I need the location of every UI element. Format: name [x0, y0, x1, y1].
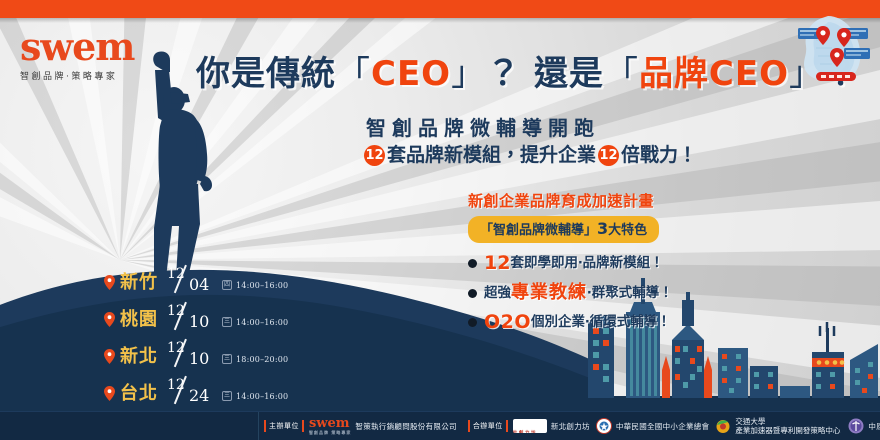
- coorganizer-tag: 合辦單位: [468, 420, 508, 432]
- partner-name-4: 中原大學創新育成中心: [868, 421, 880, 432]
- organizer-logo[interactable]: swem 智創品牌 策略專家: [309, 417, 351, 435]
- schedule-time: 18:00–20:00: [236, 355, 288, 364]
- poster-canvas: swem 智創品牌‧策略專家 你是傳統「CEO」？ 還是「品牌CEO」？ 智創品…: [0, 0, 880, 440]
- schedule-date: 12 04: [167, 267, 221, 293]
- feature-3-text: 個別企業‧循環式輔導！: [531, 316, 671, 330]
- headline-part1: 你是傳統: [196, 54, 336, 94]
- headline-open-bracket2: 「: [604, 54, 639, 94]
- schedule-time: 14:00–16:00: [236, 281, 288, 290]
- pill-pre: 「智創品牌微輔導」: [480, 223, 597, 238]
- nasme-logo-icon[interactable]: [596, 418, 612, 434]
- schedule-city: 新竹: [120, 274, 158, 292]
- feature-1-number: 12: [484, 254, 510, 273]
- schedule-time: 14:00–16:00: [236, 318, 288, 327]
- headline-ceo: CEO: [371, 54, 451, 94]
- feature-1-text: 套即學即用‧品牌新模組！: [510, 257, 663, 271]
- head-with-map-pins-graphic: [792, 14, 876, 88]
- feature-2-accent: 專業教練: [511, 284, 587, 302]
- sponsor-divider: [258, 412, 259, 440]
- shulin-badge-icon: 杜 創 力 坊 Innovation Hub: [513, 419, 547, 433]
- feature-2-text: ‧群聚式輔導！: [587, 287, 673, 301]
- sponsor-bar: 主辦單位 swem 智創品牌 策略專家 智策執行銷顧問股份有限公司 合辦單位 杜…: [0, 411, 880, 440]
- schedule-day: 24: [189, 388, 209, 404]
- feature-item-1: 12套即學即用‧品牌新模組！: [468, 254, 708, 273]
- feature-2-pre: 超強: [484, 287, 511, 301]
- schedule-row[interactable]: 新竹 12 04 四 14:00–16:00: [104, 256, 288, 293]
- schedule-row[interactable]: 新北 12 10 三 18:00–20:00: [104, 330, 288, 367]
- schedule-time: 14:00–16:00: [236, 392, 288, 401]
- logo-wordmark: swem: [20, 28, 135, 66]
- panel-title: 新創企業品牌育成加速計畫: [468, 194, 708, 209]
- panel-highlight-pill: 「智創品牌微輔導」3大特色: [468, 216, 659, 243]
- headline-close-bracket: 」: [451, 54, 486, 94]
- feature-panel: 新創企業品牌育成加速計畫 「智創品牌微輔導」3大特色 12套即學即用‧品牌新模組…: [468, 194, 708, 332]
- schedule-date: 12 10: [167, 341, 221, 367]
- feature-item-3: O2O個別企業‧循環式輔導！: [468, 313, 708, 332]
- feature-item-2: 超強專業教練‧群聚式輔導！: [468, 284, 708, 302]
- feature-3-accent: O2O: [484, 313, 531, 332]
- schedule-day: 10: [189, 351, 209, 367]
- page-title: 你是傳統「CEO」？ 還是「品牌CEO」？: [196, 57, 859, 91]
- organizer-logo-text: swem: [309, 416, 350, 431]
- map-pin-icon: [104, 275, 115, 290]
- schedule-row[interactable]: 桃園 12 10 三 14:00–16:00: [104, 293, 288, 330]
- schedule-city: 台北: [120, 385, 158, 403]
- headline-part2: 還是: [534, 54, 604, 94]
- schedule-day: 10: [189, 314, 209, 330]
- partner-name-1: 新北創力坊: [551, 421, 590, 432]
- partner-3-line2: 產業加速器暨專利開發策略中心: [735, 426, 840, 435]
- map-pin-icon: [104, 349, 115, 364]
- bullet-icon: [468, 259, 477, 268]
- bullet-icon: [468, 318, 477, 327]
- top-bar-shadow: [0, 18, 880, 23]
- partner-name-2: 中華民國全國中小企業總會: [616, 421, 710, 432]
- partner-3-line1: 交通大學: [735, 417, 765, 426]
- subtitle-line2-mid: 套品牌新模組，提升企業: [387, 146, 596, 165]
- subtitle-line2: 12套品牌新模組，提升企業12倍戰力！: [362, 145, 697, 166]
- subtitle-line2-post: 倍戰力！: [621, 146, 697, 165]
- pill-post: 大特色: [608, 223, 647, 238]
- organizer-logo-sub: 智創品牌 策略專家: [309, 431, 351, 435]
- schedule-city: 新北: [120, 348, 158, 366]
- map-pin-icon: [104, 386, 115, 401]
- schedule-row[interactable]: 台北 12 24 三 14:00–16:00: [104, 367, 288, 404]
- schedule-weekday: 三: [222, 354, 232, 364]
- badge-12-second: 12: [598, 145, 619, 166]
- badge-12-first: 12: [364, 145, 385, 166]
- schedule-date: 12 24: [167, 378, 221, 404]
- nctu-logo-icon[interactable]: [715, 418, 731, 434]
- logo-tagline: 智創品牌‧策略專家: [20, 69, 135, 82]
- schedule-weekday: 三: [222, 391, 232, 401]
- schedule-date: 12 10: [167, 304, 221, 330]
- cycu-logo-icon[interactable]: [848, 418, 864, 434]
- bullet-icon: [468, 289, 477, 298]
- top-accent-bar: [0, 0, 880, 18]
- schedule-weekday: 四: [222, 280, 232, 290]
- map-pin-icon: [104, 312, 115, 327]
- organizer-name: 智策執行銷顧問股份有限公司: [355, 421, 456, 432]
- headline-brand-ceo: 品牌CEO: [639, 54, 789, 94]
- schedule-day: 04: [189, 277, 209, 293]
- partner-name-3: 交通大學 產業加速器暨專利開發策略中心: [735, 417, 840, 435]
- pill-number: 3: [597, 219, 608, 238]
- subtitle-line1: 智創品牌微輔導開跑: [366, 118, 600, 138]
- headline-open-bracket: 「: [336, 54, 371, 94]
- schedule-city: 桃園: [120, 311, 158, 329]
- organizer-tag: 主辦單位: [264, 420, 304, 432]
- headline-question1: ？: [486, 54, 521, 94]
- brand-logo[interactable]: swem 智創品牌‧策略專家: [20, 28, 135, 82]
- event-schedule-list: 新竹 12 04 四 14:00–16:00 桃園 12 10 三 14:00–…: [104, 256, 288, 404]
- schedule-weekday: 三: [222, 317, 232, 327]
